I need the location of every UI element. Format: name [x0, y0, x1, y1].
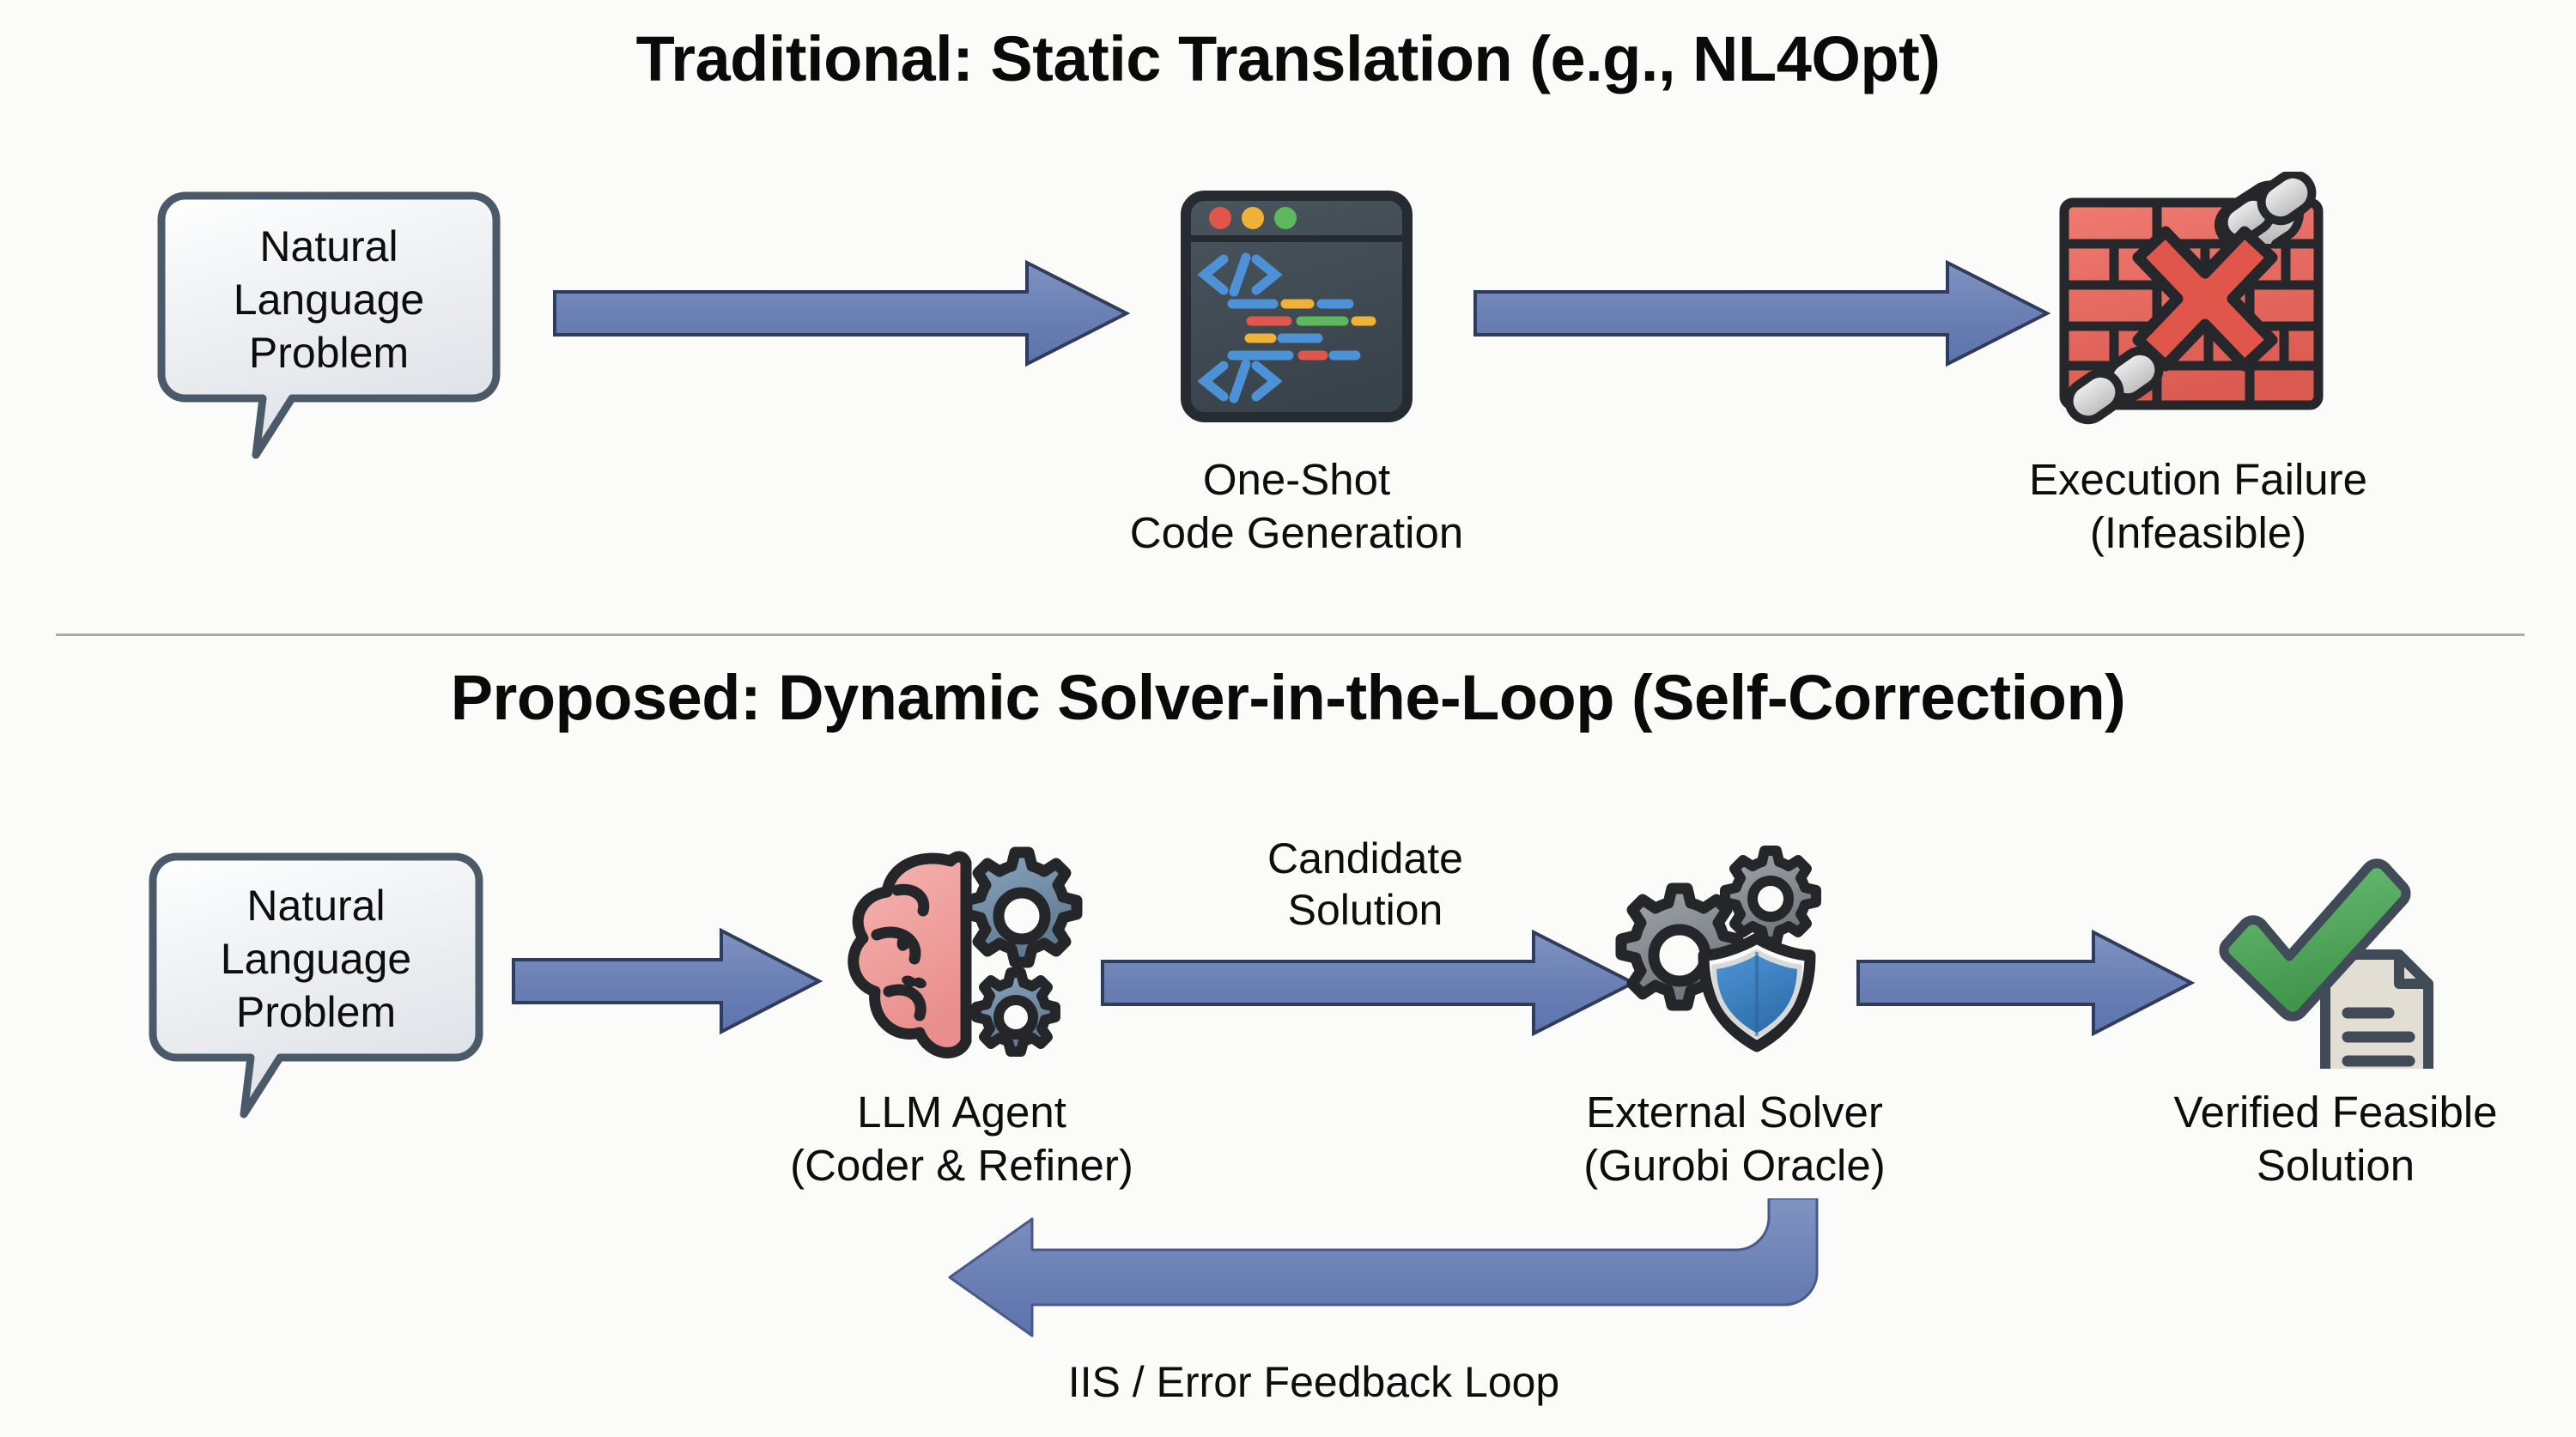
broken-wall-icon	[2054, 172, 2329, 429]
speech-bubble-natural-language-problem-2: Natural Language Problem	[144, 848, 488, 1123]
edge-label-line: Candidate	[1142, 833, 1589, 884]
bubble-line: Natural	[153, 220, 505, 273]
speech-bubble-natural-language-problem-1: Natural Language Problem	[153, 187, 505, 462]
caption-line: External Solver	[1511, 1086, 1958, 1139]
arrow-problem-to-llm-agent	[508, 925, 826, 1037]
caption-line: Code Generation	[1039, 506, 1554, 560]
section-divider	[56, 634, 2524, 636]
caption-llm-agent: LLM Agent (Coder & Refiner)	[713, 1086, 1211, 1192]
figure-canvas: Traditional: Static Translation (e.g., N…	[0, 0, 2576, 1437]
bubble-line: Natural	[144, 879, 488, 932]
bubble-line: Language	[144, 932, 488, 985]
caption-line: Execution Failure	[1932, 453, 2464, 506]
caption-one-shot-code-generation: One-Shot Code Generation	[1039, 453, 1554, 560]
section-title-proposed: Proposed: Dynamic Solver-in-the-Loop (Se…	[0, 661, 2576, 734]
speech-bubble-text-1: Natural Language Problem	[153, 187, 505, 379]
speech-bubble-text-2: Natural Language Problem	[144, 848, 488, 1039]
caption-line: (Infeasible)	[1932, 506, 2464, 560]
brain-gears-icon	[837, 846, 1095, 1073]
gears-shield-icon	[1589, 846, 1838, 1073]
bubble-line: Problem	[153, 326, 505, 379]
code-window-icon	[1181, 191, 1413, 422]
caption-verified-solution: Verified Feasible Solution	[2112, 1086, 2559, 1192]
arrow-solver-to-verified-solution	[1855, 927, 2198, 1039]
bubble-line: Problem	[144, 985, 488, 1039]
caption-execution-failure: Execution Failure (Infeasible)	[1932, 453, 2464, 560]
caption-line: (Coder & Refiner)	[713, 1139, 1211, 1192]
section-title-traditional: Traditional: Static Translation (e.g., N…	[0, 22, 2576, 95]
arrow-codegen-to-failure	[1470, 258, 2054, 369]
edge-label-feedback-loop: IIS / Error Feedback Loop	[807, 1356, 1820, 1408]
caption-line: (Gurobi Oracle)	[1511, 1139, 1958, 1192]
arrow-llm-agent-to-solver	[1099, 927, 1640, 1039]
check-document-icon	[2215, 850, 2464, 1069]
edge-label-candidate-solution: Candidate Solution	[1142, 833, 1589, 936]
arrow-feedback-loop	[910, 1198, 1872, 1370]
caption-line: Verified Feasible	[2112, 1086, 2559, 1139]
caption-line: LLM Agent	[713, 1086, 1211, 1139]
arrow-problem-to-codegen	[550, 258, 1133, 369]
caption-line: Solution	[2112, 1139, 2559, 1192]
caption-line: One-Shot	[1039, 453, 1554, 506]
caption-external-solver: External Solver (Gurobi Oracle)	[1511, 1086, 1958, 1192]
bubble-line: Language	[153, 273, 505, 326]
